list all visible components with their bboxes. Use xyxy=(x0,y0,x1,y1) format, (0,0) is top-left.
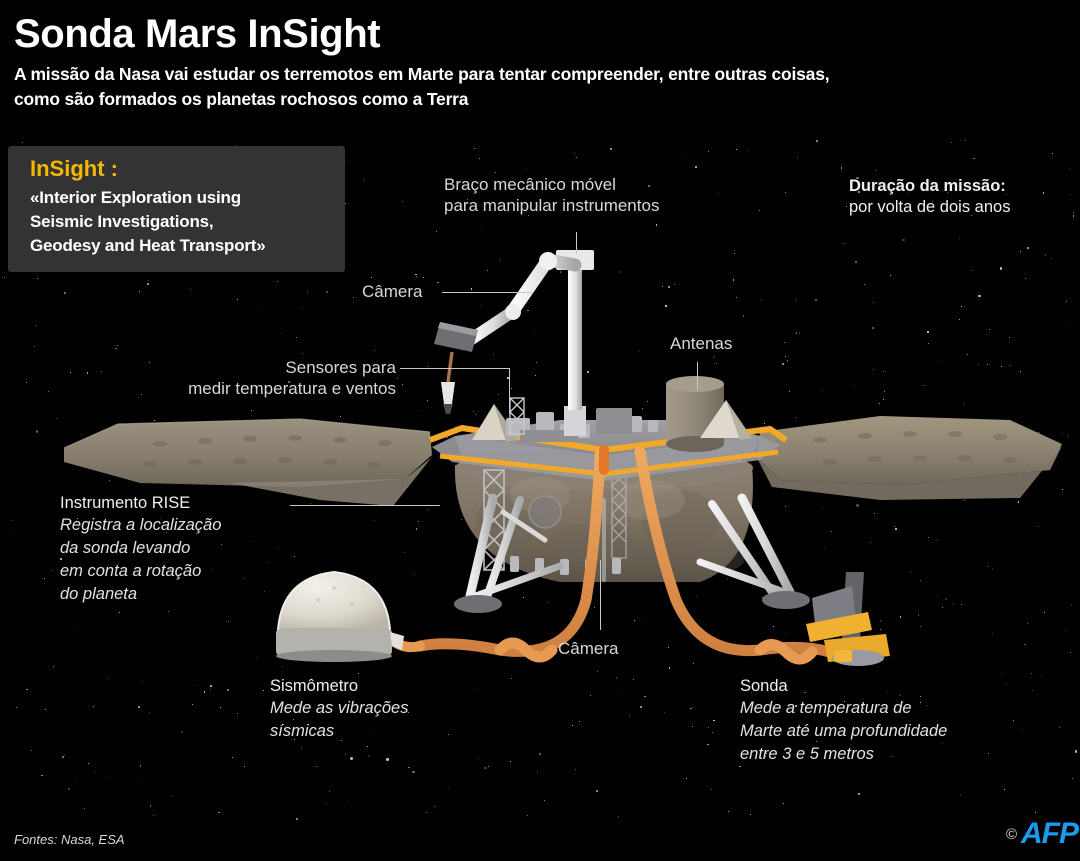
leader-line-sensors-drop xyxy=(509,368,510,414)
acronym-title: InSight : xyxy=(30,156,118,182)
mission-duration-value: por volta de dois anos xyxy=(849,197,1010,218)
antennas-text: Antenas xyxy=(670,333,732,354)
leader-line-sensors xyxy=(400,368,510,369)
afp-credit: © AFP xyxy=(1006,817,1078,851)
acronym-line-2: Seismic Investigations, xyxy=(30,212,213,231)
label-camera-bottom: Câmera xyxy=(558,638,618,659)
rise-line-2: da sonda levando xyxy=(60,537,310,560)
seismometer-title: Sismômetro xyxy=(270,676,500,697)
sensors-line-1: Sensores para xyxy=(118,357,396,378)
acronym-line-3: Geodesy and Heat Transport» xyxy=(30,236,266,255)
infographic-root: Sonda Mars InSight A missão da Nasa vai … xyxy=(0,0,1080,861)
leader-line-rise xyxy=(290,505,440,506)
insight-acronym-box: InSight : «Interior Exploration using Se… xyxy=(8,146,345,272)
arm-camera-head xyxy=(434,322,478,352)
leader-line-camera-bottom xyxy=(600,560,601,630)
sensors-line-2: medir temperatura e ventos xyxy=(118,378,396,399)
label-sensors: Sensores para medir temperatura e ventos xyxy=(118,357,396,399)
leader-line-camera-top xyxy=(442,292,532,293)
label-rise: Instrumento RISE Registra a localização … xyxy=(60,493,310,606)
antenna-cylinder xyxy=(666,376,724,452)
label-robotic-arm: Braço mecânico móvel para manipular inst… xyxy=(444,174,659,216)
label-probe: Sonda Mede a temperatura de Marte até um… xyxy=(740,676,1050,766)
label-mission-duration: Duração da missão: por volta de dois ano… xyxy=(849,176,1010,218)
robotic-arm-line-1: Braço mecânico móvel xyxy=(444,174,659,195)
rise-title: Instrumento RISE xyxy=(60,493,310,514)
label-antennas: Antenas xyxy=(670,333,732,354)
camera-top-text: Câmera xyxy=(362,281,422,302)
copyright-icon: © xyxy=(1006,826,1017,843)
probe-title: Sonda xyxy=(740,676,1050,697)
camera-bottom-text: Câmera xyxy=(558,638,618,659)
mission-duration-title: Duração da missão: xyxy=(849,176,1010,197)
label-seismometer: Sismômetro Mede as vibrações sísmicas xyxy=(270,676,500,743)
header: Sonda Mars InSight A missão da Nasa vai … xyxy=(0,0,1080,140)
seismometer-line-1: Mede as vibrações xyxy=(270,697,500,720)
label-camera-top: Câmera xyxy=(362,281,422,302)
acronym-line-1: «Interior Exploration using xyxy=(30,188,241,207)
afp-logo: AFP xyxy=(1021,817,1078,851)
seismometer-line-2: sísmicas xyxy=(270,720,500,743)
footer: Fontes: Nasa, ESA © AFP xyxy=(0,817,1080,861)
rise-line-4: do planeta xyxy=(60,583,310,606)
probe-line-3: entre 3 e 5 metros xyxy=(740,743,1050,766)
robotic-arm-line-2: para manipular instrumentos xyxy=(444,195,659,216)
page-title: Sonda Mars InSight xyxy=(14,12,380,56)
probe-line-1: Mede a temperatura de xyxy=(740,697,1050,720)
probe-line-2: Marte até uma profundidade xyxy=(740,720,1050,743)
subtitle-line-1: A missão da Nasa vai estudar os terremot… xyxy=(14,64,829,84)
page-subtitle: A missão da Nasa vai estudar os terremot… xyxy=(14,62,1064,112)
rise-line-1: Registra a localização xyxy=(60,514,310,537)
acronym-body: «Interior Exploration using Seismic Inve… xyxy=(30,186,335,258)
solar-panel-right xyxy=(756,416,1062,500)
leader-line-antennas xyxy=(697,362,698,390)
leader-line-arm xyxy=(576,232,577,254)
sources-text: Fontes: Nasa, ESA xyxy=(14,832,125,847)
robotic-arm xyxy=(434,252,575,414)
rise-line-3: em conta a rotação xyxy=(60,560,310,583)
subtitle-line-2: como são formados os planetas rochosos c… xyxy=(14,89,468,109)
